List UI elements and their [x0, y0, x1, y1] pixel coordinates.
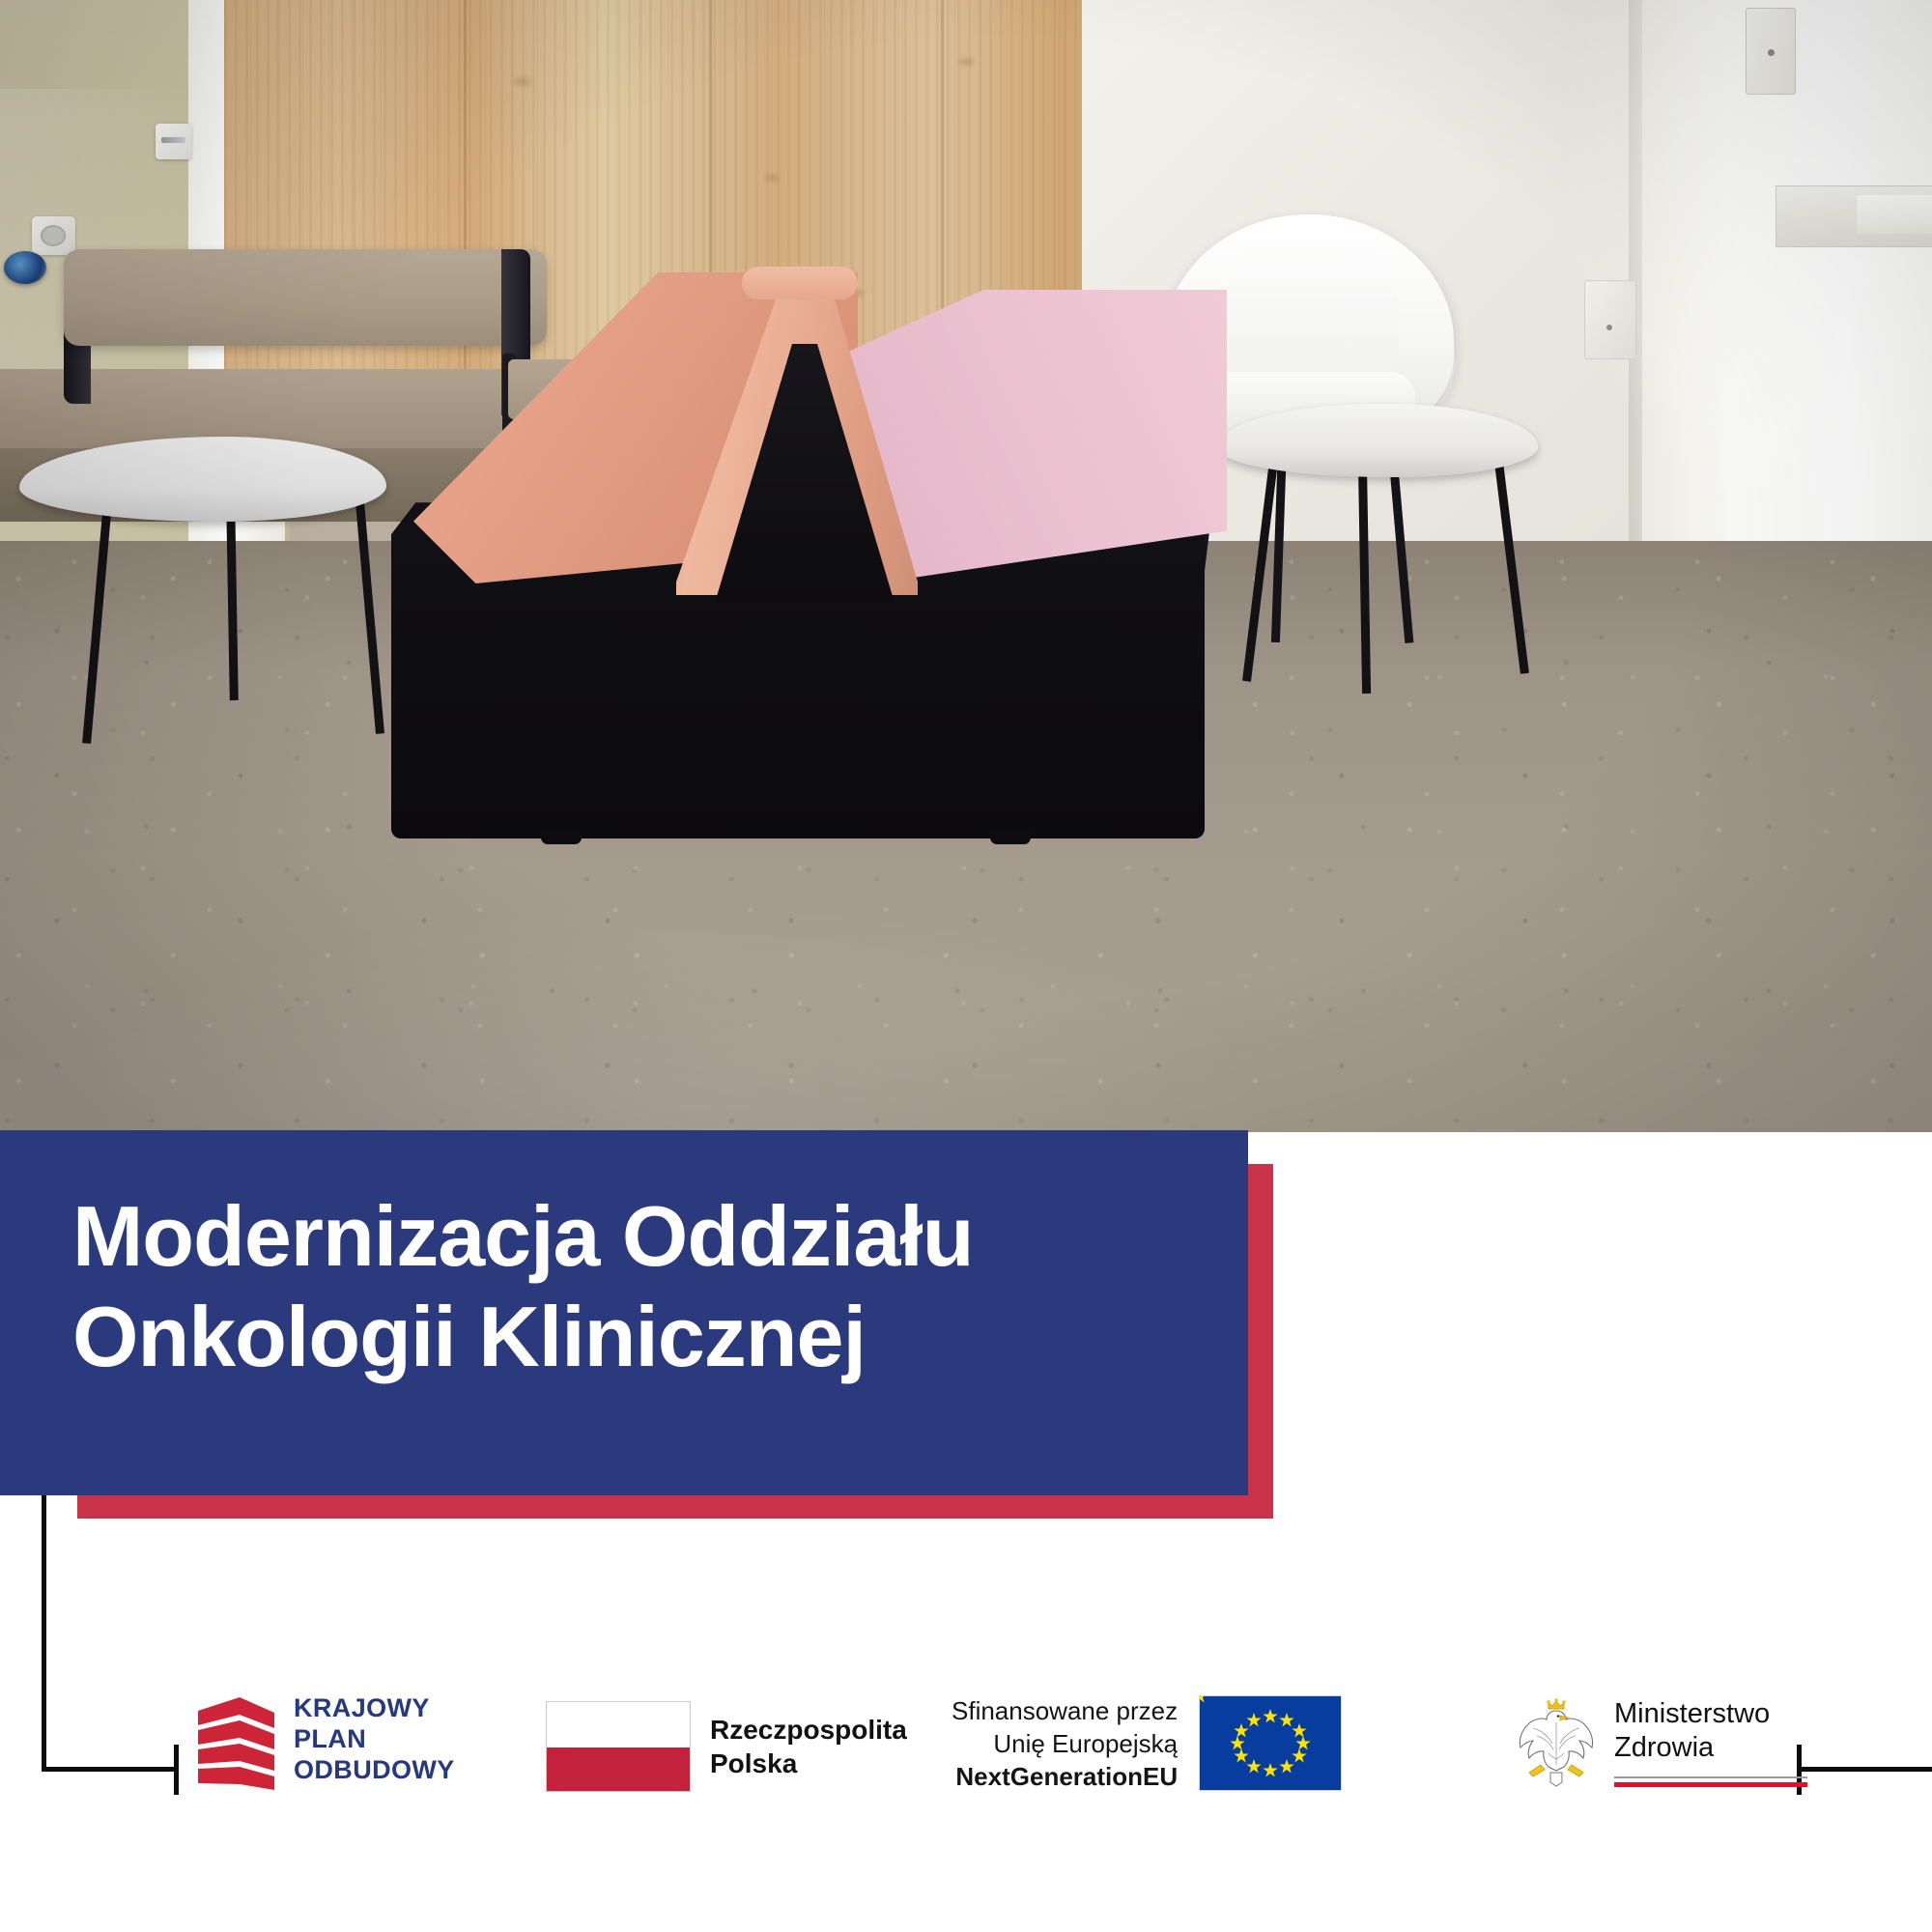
bench-foot: [990, 831, 1031, 844]
bench-foot: [541, 831, 582, 844]
eu-line2: Unię Europejską: [952, 1728, 1178, 1761]
wood-knot: [765, 174, 779, 182]
kpo-line2: PLAN: [294, 1724, 455, 1755]
logo-rzeczpospolita-polska: Rzeczpospolita Polska: [546, 1701, 907, 1792]
power-socket-icon: [32, 216, 75, 255]
kpo-line1: KRAJOWY: [294, 1693, 455, 1724]
logo-krajowy-plan-odbudowy: KRAJOWY PLAN ODBUDOWY: [193, 1693, 455, 1790]
ministry-rule-grey: [1614, 1776, 1807, 1778]
taupe-sofa-backrest: [64, 249, 547, 346]
wood-knot: [514, 77, 531, 86]
accent-bar-horizontal: [77, 1495, 1273, 1519]
wall-knob-icon: [4, 251, 46, 284]
ceiling-duct-end: [1857, 195, 1932, 234]
eu-wordmark: Sfinansowane przez Unię Europejską NextG…: [952, 1695, 1178, 1793]
eu-line1: Sfinansowane przez: [952, 1695, 1178, 1728]
poland-line1: Rzeczpospolita: [710, 1713, 907, 1747]
page-title-line2: Onkologii Klinicznej: [72, 1287, 1193, 1387]
ministry-line1: Ministerstwo: [1614, 1697, 1807, 1731]
page-title: Modernizacja Oddziału Onkologii Kliniczn…: [72, 1186, 1193, 1387]
accent-bar-vertical: [1248, 1164, 1273, 1519]
eu-flag-icon: [1199, 1695, 1342, 1791]
logo-bar: KRAJOWY PLAN ODBUDOWY Rzeczpospolita Pol…: [0, 1686, 1932, 1855]
logo-next-generation-eu: Sfinansowane przez Unię Europejską NextG…: [952, 1695, 1342, 1793]
eu-line3: NextGenerationEU: [952, 1761, 1178, 1794]
poland-flag-icon: [546, 1701, 691, 1792]
poster-root: Modernizacja Oddziału Onkologii Kliniczn…: [0, 0, 1932, 1932]
hero-photo: [0, 0, 1932, 1132]
bench-ridge-cap: [742, 267, 858, 299]
poland-wordmark: Rzeczpospolita Polska: [710, 1701, 907, 1781]
kpo-line3: ODBUDOWY: [294, 1755, 455, 1786]
poland-flag-red-band: [547, 1747, 690, 1791]
wood-knot: [958, 58, 974, 66]
coffee-table-right: [1219, 404, 1538, 477]
kpo-building-icon: [193, 1693, 278, 1790]
poland-line2: Polska: [710, 1747, 907, 1780]
ministry-rule-red: [1614, 1782, 1807, 1787]
page-title-line1: Modernizacja Oddziału: [72, 1186, 1193, 1287]
logo-ministerstwo-zdrowia: Ministerstwo Zdrowia: [1512, 1697, 1807, 1790]
ministry-line2: Zdrowia: [1614, 1731, 1807, 1765]
ministry-wordmark: Ministerstwo Zdrowia: [1614, 1697, 1807, 1787]
kpo-wordmark: KRAJOWY PLAN ODBUDOWY: [294, 1693, 455, 1786]
wall-service-plate: [1584, 280, 1636, 359]
wall-access-panel: [1746, 8, 1796, 95]
light-switch-icon: [156, 124, 191, 159]
poland-flag-white-band: [547, 1702, 690, 1747]
polish-eagle-icon: [1512, 1697, 1601, 1790]
